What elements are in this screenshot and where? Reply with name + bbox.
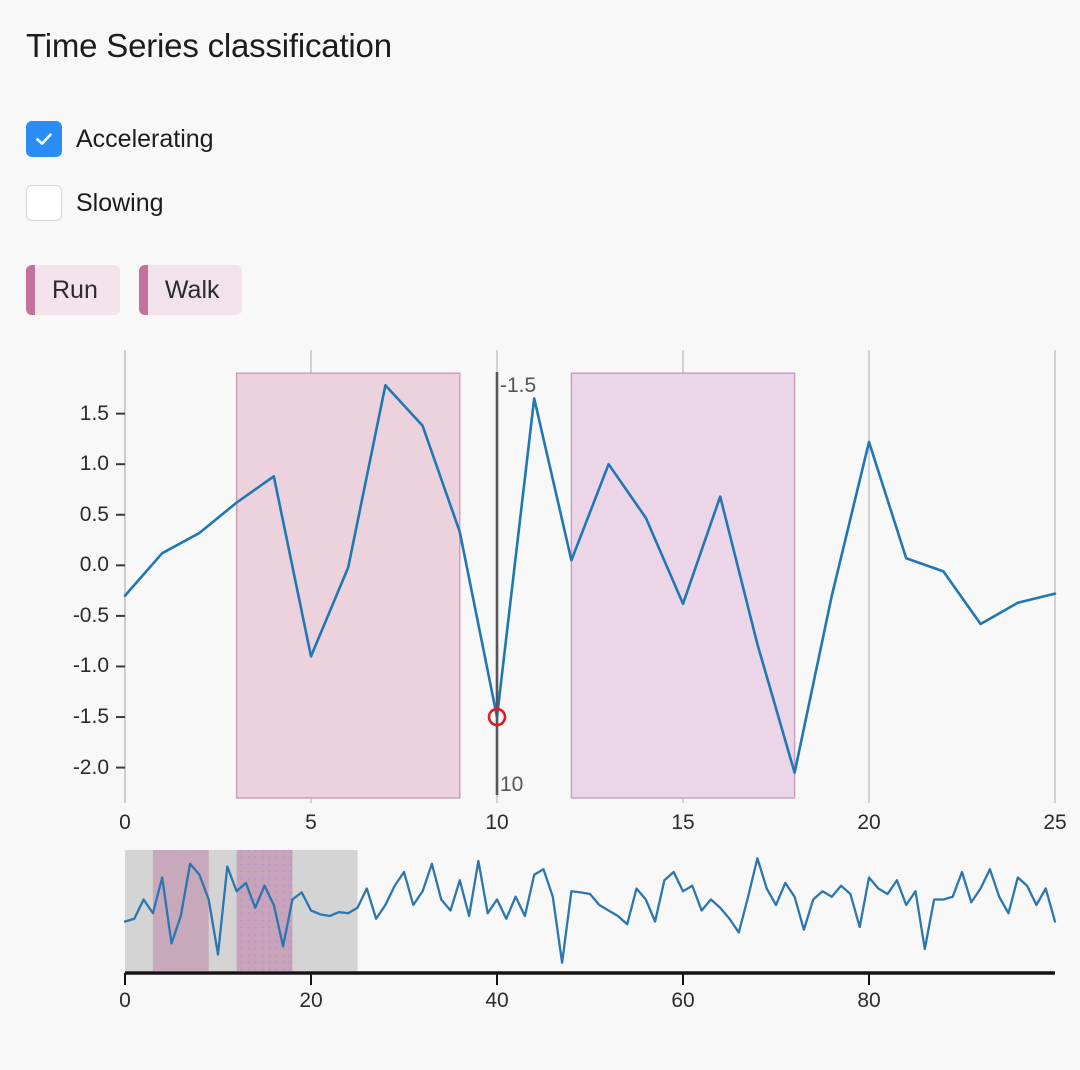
y-tick-label: 0.5 xyxy=(80,503,109,527)
cursor-x-label: 10 xyxy=(500,773,523,797)
y-tick-label: 1.0 xyxy=(80,452,109,476)
x-tick-label: 20 xyxy=(857,811,880,835)
checkbox-row-accelerating[interactable]: Accelerating xyxy=(26,121,214,157)
minimap-x-tick-label: 20 xyxy=(299,989,322,1013)
class-chip-walk[interactable]: Walk xyxy=(139,265,242,315)
checkbox-row-slowing[interactable]: Slowing xyxy=(26,185,164,221)
y-tick-label: 1.5 xyxy=(80,402,109,426)
minimap-x-tick-label: 40 xyxy=(485,989,508,1013)
y-tick-label: -0.5 xyxy=(73,604,109,628)
x-tick-label: 0 xyxy=(119,811,131,835)
y-tick-label: -2.0 xyxy=(73,756,109,780)
y-tick-label: -1.0 xyxy=(73,654,109,678)
minimap-svg[interactable] xyxy=(0,840,1080,1015)
page-title: Time Series classification xyxy=(26,27,392,65)
x-tick-label: 15 xyxy=(671,811,694,835)
minimap-x-tick-label: 60 xyxy=(671,989,694,1013)
class-chip-label-walk: Walk xyxy=(165,276,220,305)
main-chart[interactable]: 1.51.00.50.0-0.5-1.0-1.5-2.00510152025-1… xyxy=(0,340,1080,840)
minimap-band-walk[interactable] xyxy=(237,850,293,971)
x-tick-label: 5 xyxy=(305,811,317,835)
cursor-y-label: -1.5 xyxy=(500,374,536,398)
class-band-walk[interactable] xyxy=(571,373,794,798)
x-tick-label: 25 xyxy=(1043,811,1066,835)
checkbox-slowing[interactable] xyxy=(26,185,62,221)
class-chip-list: Run Walk xyxy=(26,265,242,315)
checkbox-label-accelerating: Accelerating xyxy=(76,125,214,154)
y-tick-label: -1.5 xyxy=(73,705,109,729)
class-chip-label-run: Run xyxy=(52,276,98,305)
x-tick-label: 10 xyxy=(485,811,508,835)
main-chart-svg[interactable] xyxy=(0,340,1080,840)
class-chip-run[interactable]: Run xyxy=(26,265,120,315)
minimap-chart[interactable]: 020406080 xyxy=(0,840,1080,1015)
time-series-classification-page: Time Series classification Accelerating … xyxy=(0,0,1080,1070)
check-icon xyxy=(33,128,55,150)
checkbox-label-slowing: Slowing xyxy=(76,189,164,218)
y-tick-label: 0.0 xyxy=(80,553,109,577)
checkbox-accelerating[interactable] xyxy=(26,121,62,157)
minimap-x-tick-label: 0 xyxy=(119,989,131,1013)
minimap-x-tick-label: 80 xyxy=(857,989,880,1013)
